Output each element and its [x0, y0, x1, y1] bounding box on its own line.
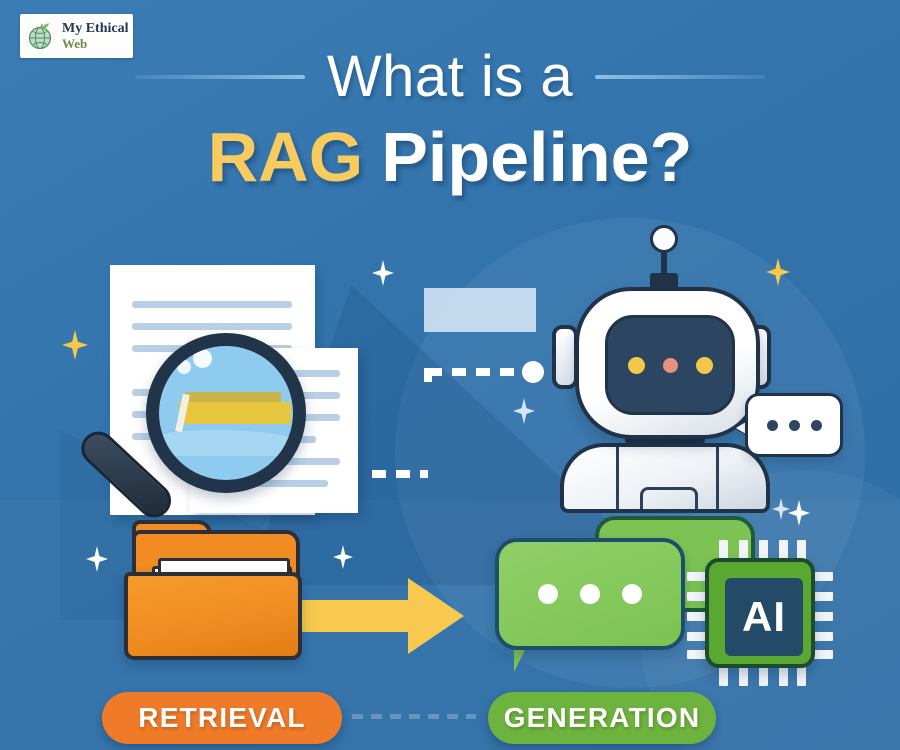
- logo-text: My Ethical Web: [62, 22, 129, 50]
- chip-pin: [759, 666, 768, 686]
- page-title-line1: What is a: [327, 48, 573, 106]
- logo-line-1: My Ethical: [62, 22, 129, 37]
- chat-bubble-front: [495, 538, 685, 650]
- connector-horizontal-bottom: [372, 470, 428, 478]
- doc-text-line: [132, 301, 292, 308]
- chip-core: AI: [725, 578, 803, 656]
- badge-connector-dash: [352, 714, 476, 719]
- speech-dot: [789, 420, 800, 431]
- chat-dot: [538, 584, 558, 604]
- chip-pin: [797, 666, 806, 686]
- chip-pin: [779, 540, 788, 560]
- document-folder: [122, 530, 312, 670]
- chip-body: AI: [705, 558, 815, 668]
- badge-generation[interactable]: GENERATION: [488, 692, 716, 744]
- chip-pin: [687, 612, 707, 621]
- page-title-highlight: RAG: [208, 118, 364, 196]
- page-title-rest: Pipeline?: [381, 118, 692, 196]
- lens-wave: [151, 430, 301, 456]
- magnifier-lens: [146, 333, 306, 493]
- title-rule-left: [135, 75, 305, 79]
- chip-pin: [687, 572, 707, 581]
- globe-apple-icon: [27, 21, 57, 51]
- title-row-1: What is a: [0, 48, 900, 106]
- cloud-icon: [424, 288, 536, 332]
- lens-highlight-bar: [179, 402, 291, 424]
- chip-pin: [813, 650, 833, 659]
- chip-pin: [687, 632, 707, 641]
- robot-eye-center: [663, 358, 678, 373]
- badge-retrieval-label: RETRIEVAL: [138, 702, 305, 734]
- chip-pin: [687, 650, 707, 659]
- chip-label: AI: [742, 596, 786, 638]
- connector-horizontal-top: [428, 368, 526, 376]
- robot-body: [560, 443, 770, 513]
- chip-pin: [759, 540, 768, 560]
- chip-pin: [813, 612, 833, 621]
- chip-pin: [813, 572, 833, 581]
- chip-pin: [797, 540, 806, 560]
- title-rule-right: [595, 75, 765, 79]
- speech-dot: [811, 420, 822, 431]
- chip-pin: [739, 540, 748, 560]
- robot-speech-bubble: [745, 393, 843, 457]
- chat-dot: [622, 584, 642, 604]
- lens-glint-large: [193, 349, 212, 368]
- infographic-canvas: My Ethical Web What is a RAGPipeline?: [0, 0, 900, 750]
- chat-dot: [580, 584, 600, 604]
- robot-eye-left: [628, 357, 645, 374]
- robot-body-seam: [616, 447, 619, 513]
- flow-arrow-shaft: [300, 600, 420, 632]
- robot-face-screen: [605, 315, 735, 415]
- flow-arrow-head: [408, 578, 464, 654]
- chip-pin: [719, 540, 728, 560]
- folder-front-panel: [124, 572, 302, 660]
- chip-pin: [739, 666, 748, 686]
- connector-vertical: [424, 368, 432, 478]
- chip-pin: [687, 592, 707, 601]
- robot-body-seam: [716, 447, 719, 513]
- robot-head: [575, 287, 760, 439]
- robot-antenna-ball: [650, 225, 678, 253]
- doc-text-line: [132, 323, 292, 330]
- chip-pin: [779, 666, 788, 686]
- chip-pin: [813, 632, 833, 641]
- speech-dot: [767, 420, 778, 431]
- title-row-2: RAGPipeline?: [0, 122, 900, 192]
- robot-chest-panel: [640, 487, 698, 513]
- badge-retrieval[interactable]: RETRIEVAL: [102, 692, 342, 744]
- robot-eye-right: [696, 357, 713, 374]
- chip-pin: [719, 666, 728, 686]
- title-block: What is a RAGPipeline?: [0, 48, 900, 192]
- badge-generation-label: GENERATION: [504, 702, 701, 734]
- ai-robot: [540, 225, 850, 490]
- chip-pin: [813, 592, 833, 601]
- ai-chip: AI: [705, 558, 815, 668]
- lens-glint-small: [177, 360, 191, 374]
